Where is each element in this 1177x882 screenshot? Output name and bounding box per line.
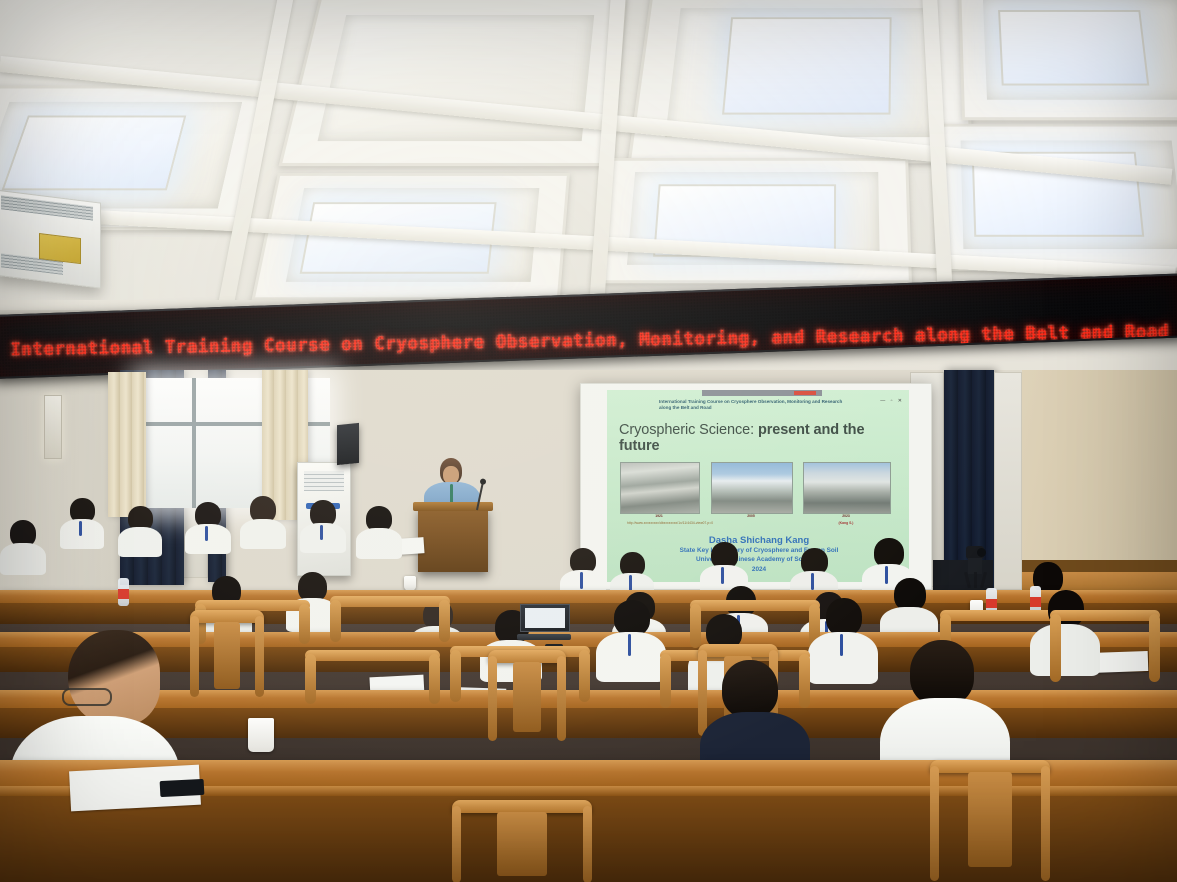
video-camera	[962, 546, 988, 586]
slide-title-light: Cryospheric Science:	[619, 422, 758, 438]
audience-member	[596, 600, 666, 682]
audience-member	[808, 598, 878, 682]
ceiling-light	[2, 116, 187, 191]
glacier-photo-3	[803, 462, 891, 514]
wooden-chair[interactable]	[488, 650, 566, 740]
bench-back-rail	[1050, 610, 1160, 680]
window-controls: — ▫ ✕	[880, 398, 904, 404]
photo-caption-3: 2023	[803, 514, 889, 518]
equipment-label	[39, 233, 81, 264]
wooden-chair[interactable]	[930, 760, 1050, 882]
slide-header-text: International Training Course on Cryosph…	[659, 399, 849, 411]
water-bottle	[118, 578, 129, 606]
wall-sconce	[44, 395, 62, 459]
wooden-chair[interactable]	[452, 800, 592, 882]
audience-member	[185, 502, 231, 550]
audience-member	[240, 496, 286, 546]
laptop[interactable]	[520, 604, 568, 640]
smartphone[interactable]	[160, 779, 205, 797]
affiliation-line-2: University, Chinese Academy of Sciences	[625, 555, 893, 565]
podium	[418, 508, 488, 572]
presenter-name: Dasha Shichang Kang	[625, 536, 893, 546]
photo-subcaption-3: (Kang S.)	[803, 521, 889, 525]
audience-member	[118, 506, 162, 554]
slide-title: Cryospheric Science: present and the fut…	[619, 422, 899, 454]
affiliation-line-3: 2024	[625, 565, 893, 575]
eyeglasses	[62, 688, 112, 706]
marble-panel	[994, 372, 1022, 590]
ceiling-light	[998, 10, 1149, 86]
wall-ac-unit	[0, 189, 101, 288]
presenter-credit: Dasha Shichang Kang State Key Laboratory…	[625, 536, 893, 574]
glacier-photo-1	[620, 462, 700, 514]
photo-caption-1: 1921	[620, 514, 698, 518]
paper-cup	[404, 576, 416, 591]
conference-hall-photo: International Training Course on Cryosph…	[0, 0, 1177, 882]
slide-source-url: http://www.xxxxxxxxx/dbxxxxxxxx/1x/11/44…	[627, 521, 713, 525]
audience-member	[356, 506, 402, 556]
audience-member	[60, 498, 104, 546]
audience-member	[300, 500, 346, 550]
wooden-chair[interactable]	[190, 610, 264, 696]
glacier-photo-2	[711, 462, 793, 514]
photo-caption-2: 2005	[711, 514, 791, 518]
ceiling-light	[722, 18, 892, 115]
paper-cup	[248, 718, 274, 752]
window-curtain-left	[108, 372, 146, 517]
bench-back-rail	[330, 596, 450, 640]
bench-back-rail	[305, 650, 440, 702]
affiliation-line-1: State Key Laboratory of Cryosphere and F…	[625, 546, 893, 556]
audience-member	[0, 520, 46, 572]
browser-chrome-bar	[702, 390, 822, 396]
wall-speaker	[337, 423, 359, 465]
